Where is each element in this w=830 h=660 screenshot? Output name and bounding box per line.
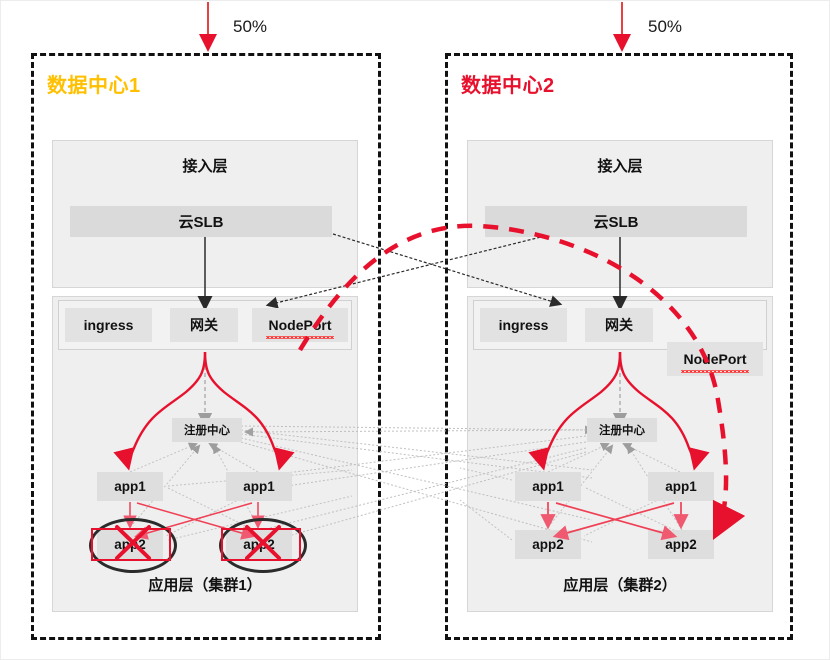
dc1-app2-right-failure-box <box>221 528 301 561</box>
diagram-canvas: 数据中心1 数据中心2 50% 50% 接入层 云SLB ingress 网关 … <box>0 0 830 660</box>
dc1-app2-left-failure-box <box>91 528 171 561</box>
